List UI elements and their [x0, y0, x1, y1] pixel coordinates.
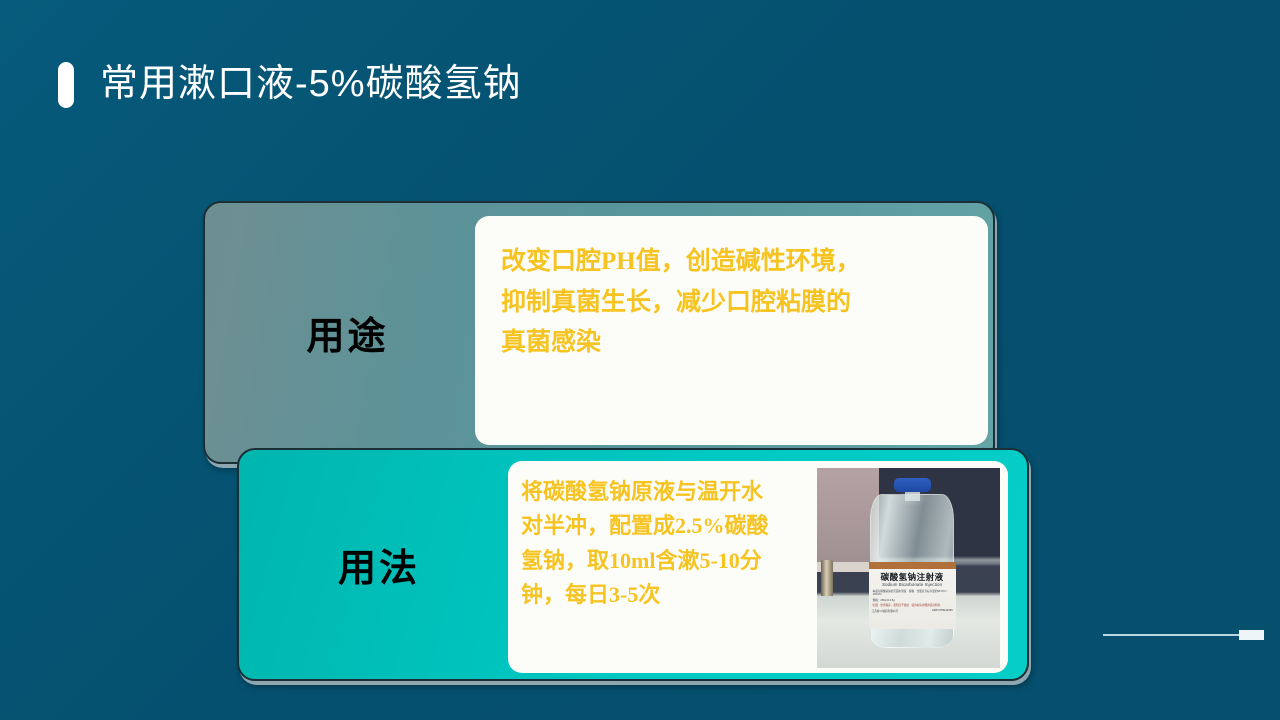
bottle-label-title-cn: 碳酸氢钠注射液	[869, 573, 956, 582]
slide-root: 常用漱口液-5%碳酸氢钠 用途 改变口腔PH值，创造碱性环境， 抑制真菌生长，减…	[0, 0, 1280, 720]
card-usage[interactable]: 用途 改变口腔PH值，创造碱性环境， 抑制真菌生长，减少口腔粘膜的 真菌感染	[203, 201, 995, 464]
card-method-text-panel: 将碳酸氢钠原液与温开水 对半冲，配置成2.5%碳酸 氢钠，取10ml含漱5-10…	[508, 461, 1008, 673]
card-method-line-1: 将碳酸氢钠原液与温开水	[521, 475, 824, 509]
card-usage-line-2: 抑制真菌生长，减少口腔粘膜的	[501, 283, 968, 324]
decoration-block	[1239, 630, 1264, 640]
photo-bottle-cap	[894, 478, 931, 492]
bottle-label-title-en: Sodium Bicarbonate Injection	[869, 583, 956, 587]
card-usage-label: 用途	[205, 203, 490, 462]
bottle-label-code: GMP 0755122345	[932, 609, 953, 613]
slide-title-row: 常用漱口液-5%碳酸氢钠	[58, 62, 522, 108]
card-usage-line-1: 改变口腔PH值，创造碱性环境，	[501, 242, 968, 283]
page-title: 常用漱口液-5%碳酸氢钠	[100, 65, 522, 105]
card-method-line-4: 钟，每日3-5次	[521, 578, 824, 612]
bottle-label-maker: 江苏省××制药有限公司	[872, 609, 898, 613]
card-method-label: 用法	[239, 450, 519, 679]
decoration-line	[1103, 634, 1239, 636]
bottle-label-warning: 贮藏 密闭保存，置阴凉干燥处 使用前请详细阅读说明书	[873, 604, 952, 607]
card-method-line-2: 对半冲，配置成2.5%碳酸	[521, 509, 824, 543]
bottle-photo-scene: 碳酸氢钠注射液 Sodium Bicarbonate Injection 本品为…	[817, 468, 1000, 668]
photo-bottle: 碳酸氢钠注射液 Sodium Bicarbonate Injection 本品为…	[870, 494, 954, 648]
card-method-text-block: 将碳酸氢钠原液与温开水 对半冲，配置成2.5%碳酸 氢钠，取10ml含漱5-10…	[508, 461, 828, 673]
card-usage-text-panel: 改变口腔PH值，创造碱性环境， 抑制真菌生长，减少口腔粘膜的 真菌感染	[475, 216, 988, 445]
card-method[interactable]: 用法 将碳酸氢钠原液与温开水 对半冲，配置成2.5%碳酸 氢钠，取10ml含漱5…	[237, 448, 1029, 681]
card-method-line-3: 氢钠，取10ml含漱5-10分	[521, 544, 824, 578]
bottle-label-body: 本品为碳酸氢钠的灭菌水溶液 规格 含量应为标示量的95.0%～105.0%	[873, 590, 952, 598]
bottom-right-decoration	[1103, 630, 1264, 640]
bottle-label-footer: 江苏省××制药有限公司 GMP 0755122345	[872, 609, 953, 613]
photo-bottle-label: 碳酸氢钠注射液 Sodium Bicarbonate Injection 本品为…	[869, 562, 956, 629]
title-bullet-icon	[58, 62, 74, 108]
card-usage-line-3: 真菌感染	[501, 323, 968, 364]
bottle-photo: 碳酸氢钠注射液 Sodium Bicarbonate Injection 本品为…	[817, 468, 1000, 668]
bottle-label-spec: 规格：250ml:12.5g	[873, 599, 952, 603]
